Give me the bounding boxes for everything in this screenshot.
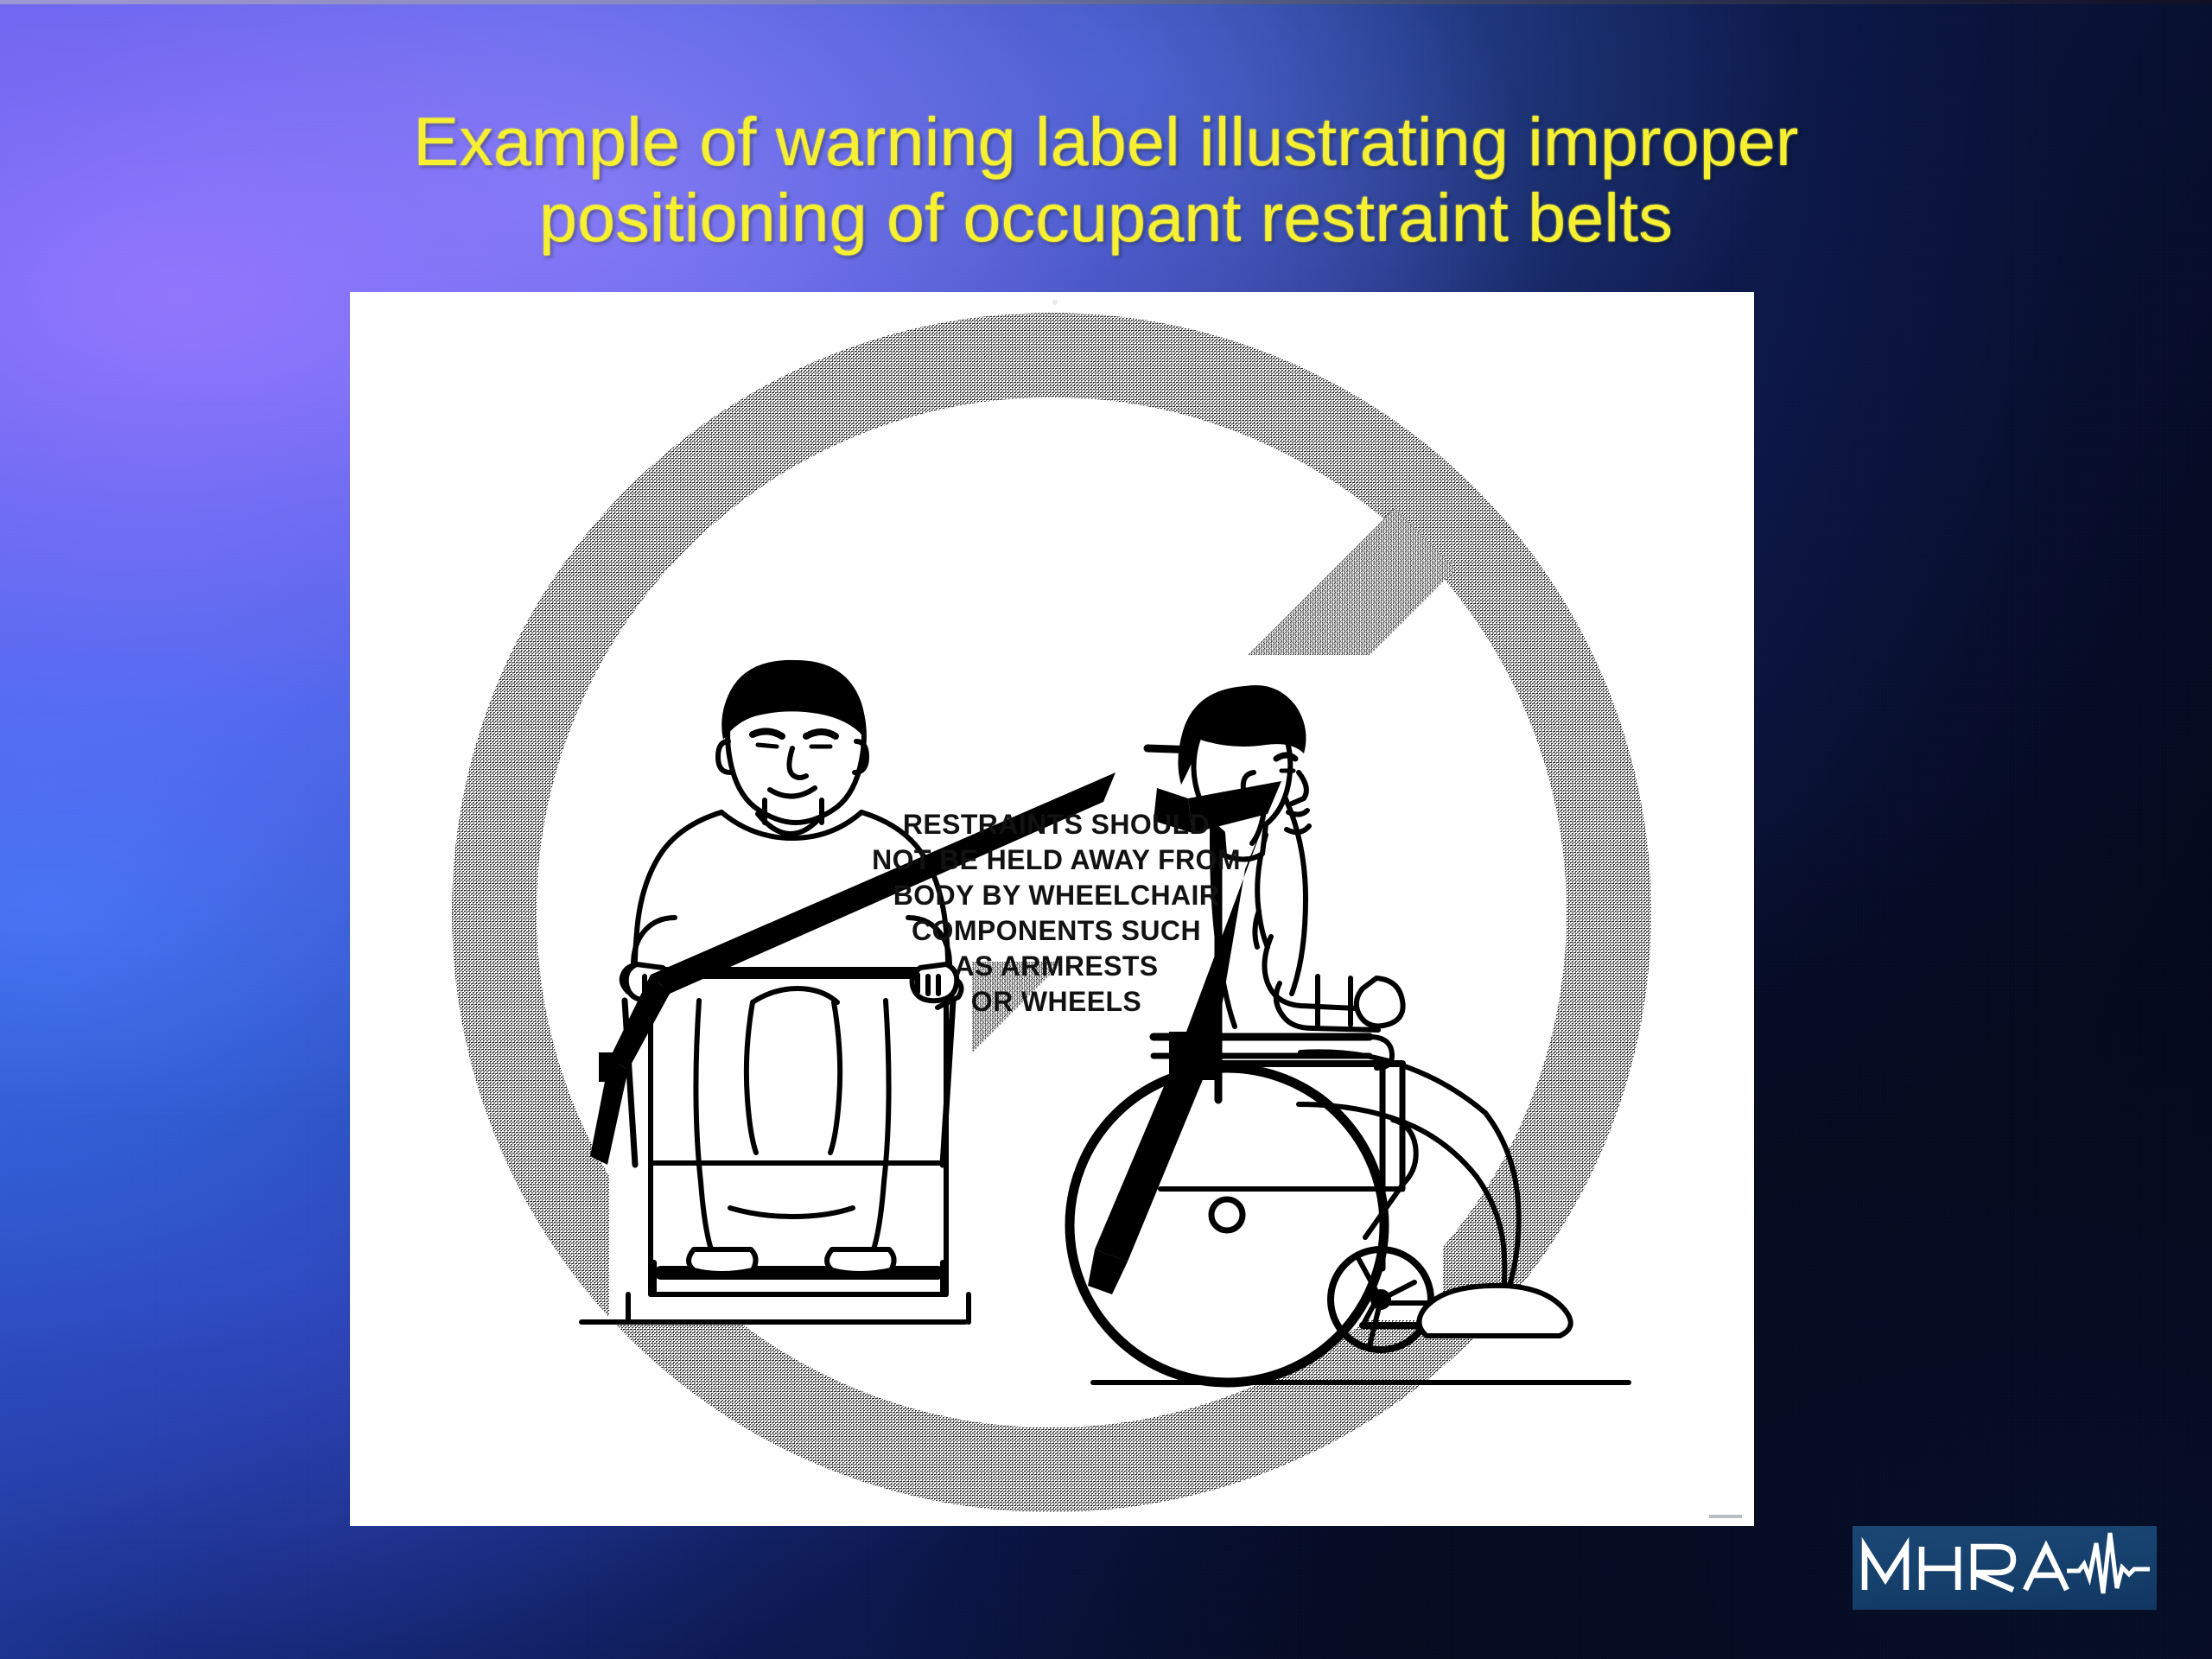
page-title: Example of warning label illustrating im… <box>0 104 2212 257</box>
warning-text-block: RESTRAINTS SHOULD NOT BE HELD AWAY FROM … <box>847 807 1266 1020</box>
panel-bottom-marker <box>1709 1515 1742 1518</box>
warning-line-4: COMPONENTS SUCH <box>847 913 1266 949</box>
mhra-logo <box>1853 1526 2157 1610</box>
warning-line-3: BODY BY WHEELCHAIR <box>847 878 1266 913</box>
warning-line-6: OR WHEELS <box>847 984 1266 1020</box>
warning-label-image-panel: RESTRAINTS SHOULD NOT BE HELD AWAY FROM … <box>350 292 1754 1526</box>
slide-canvas: Example of warning label illustrating im… <box>0 0 2212 1659</box>
page-title-line-2: positioning of occupant restraint belts <box>0 180 2212 256</box>
page-title-line-1: Example of warning label illustrating im… <box>0 104 2212 180</box>
warning-line-2: NOT BE HELD AWAY FROM <box>847 842 1266 878</box>
warning-line-5: AS ARMRESTS <box>847 949 1266 984</box>
top-edge-highlight <box>0 0 2212 4</box>
warning-line-1: RESTRAINTS SHOULD <box>847 807 1266 842</box>
